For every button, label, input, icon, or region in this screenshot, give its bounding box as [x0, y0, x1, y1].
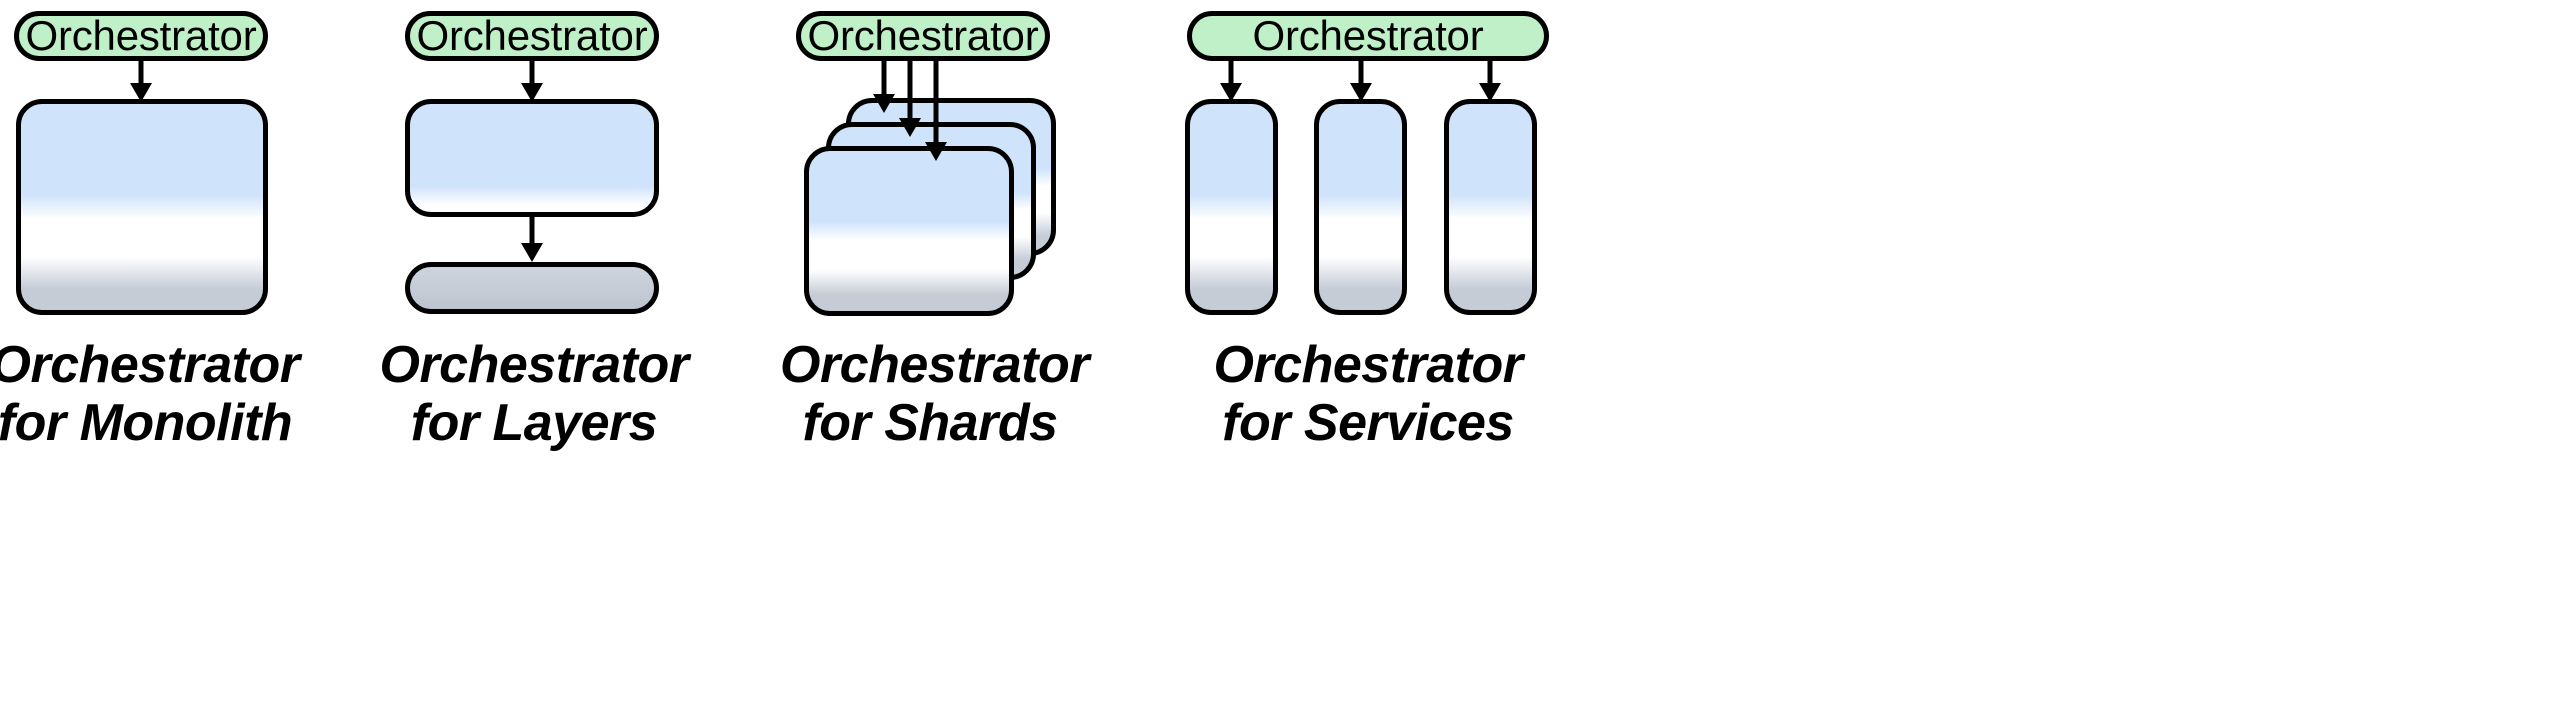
component-layers-lower[interactable] [405, 262, 659, 314]
panel-shards: Orchestrator Orchestrator for Shards [790, 0, 1078, 726]
panel-layers: Orchestrator Orchestrator for Layers [393, 0, 675, 726]
orchestrator-node-monolith[interactable]: Orchestrator [14, 11, 268, 61]
component-monolith-main[interactable] [16, 99, 268, 315]
orchestrator-node-services[interactable]: Orchestrator [1187, 11, 1549, 61]
arrow-layers-1 [517, 61, 547, 102]
arrow-shards-2 [895, 61, 925, 137]
panel-caption-monolith: Orchestrator for Monolith [0, 336, 300, 452]
panel-caption-layers: Orchestrator for Layers [379, 336, 689, 452]
component-shard-1[interactable] [804, 146, 1014, 316]
arrow-monolith-1 [126, 61, 156, 102]
arrow-services-2 [1346, 61, 1376, 102]
component-service-2[interactable] [1314, 99, 1407, 315]
component-layers-upper[interactable] [405, 99, 659, 217]
arrow-shards-1 [869, 61, 899, 113]
arrow-services-1 [1216, 61, 1246, 102]
panel-caption-shards: Orchestrator for Shards [780, 336, 1080, 452]
panel-caption-services: Orchestrator for Services [1208, 336, 1528, 452]
orchestrator-node-layers[interactable]: Orchestrator [405, 11, 659, 61]
arrow-services-3 [1475, 61, 1505, 102]
diagram-canvas: Orchestrator Orchestrator for Monolith O… [0, 0, 2552, 726]
component-service-3[interactable] [1444, 99, 1537, 315]
orchestrator-node-shards[interactable]: Orchestrator [796, 11, 1050, 61]
component-service-1[interactable] [1185, 99, 1278, 315]
arrow-layers-2 [517, 217, 547, 262]
panel-services: Orchestrator Orchestrator for Services [1183, 0, 1552, 726]
panel-monolith: Orchestrator Orchestrator for Monolith [0, 0, 290, 726]
arrow-shards-3 [921, 61, 951, 161]
